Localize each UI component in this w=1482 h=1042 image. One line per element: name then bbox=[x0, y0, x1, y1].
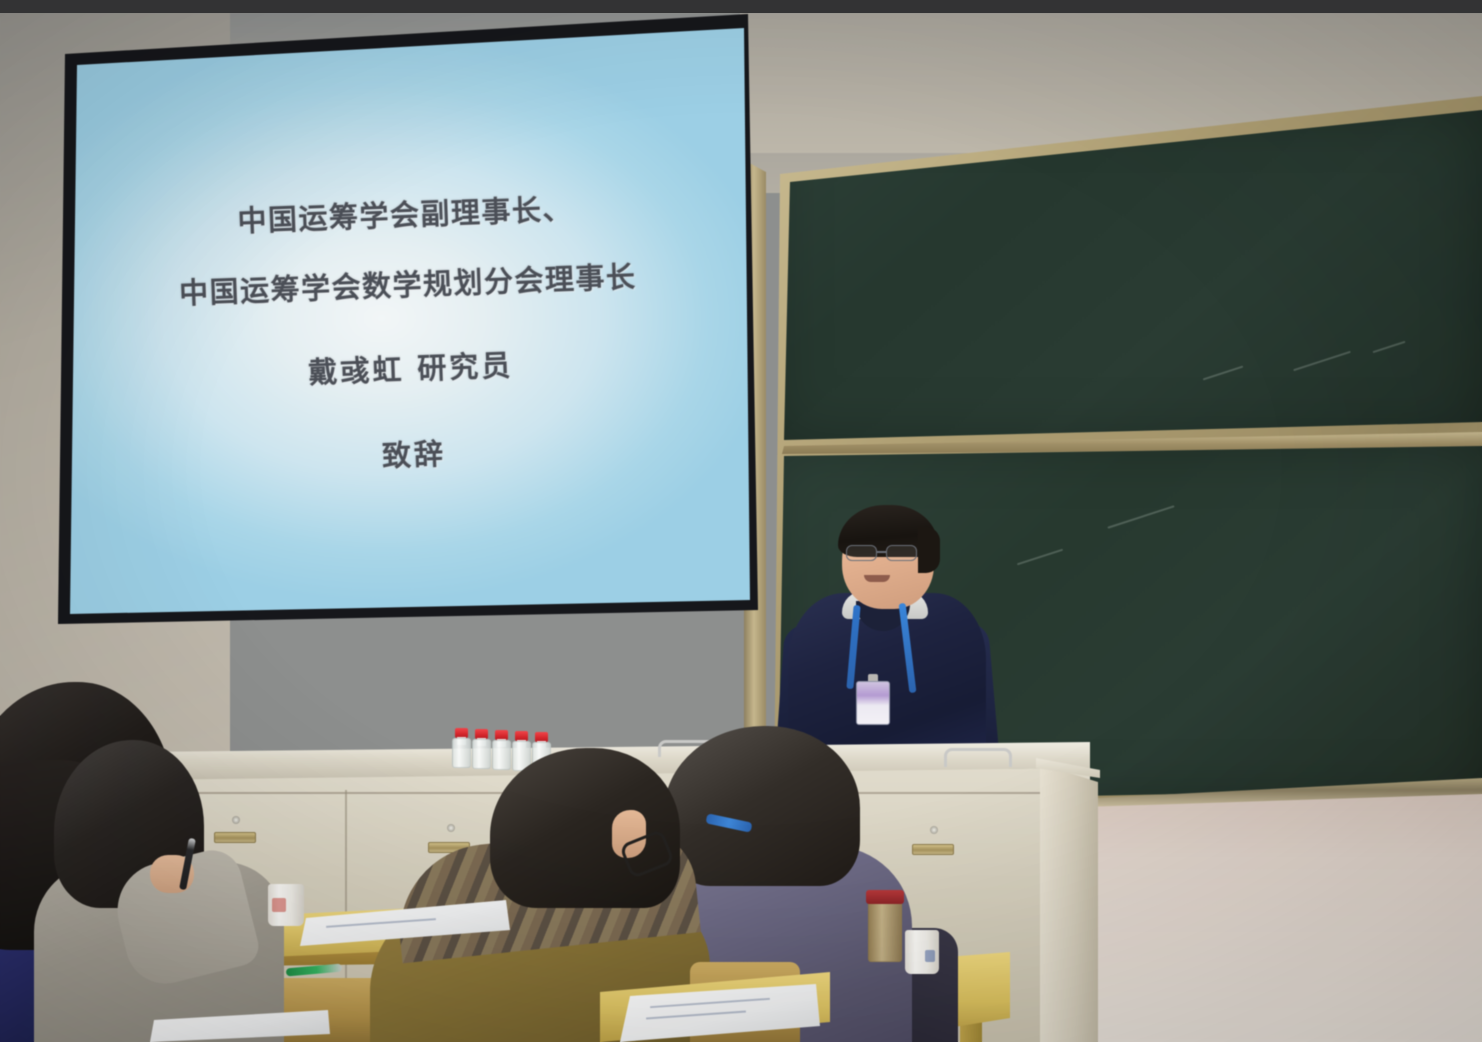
cabinet-drawer-handle[interactable] bbox=[214, 832, 256, 843]
cabinet-lock[interactable] bbox=[447, 824, 455, 832]
cabinet-lock[interactable] bbox=[232, 816, 240, 824]
paper-cup bbox=[268, 884, 304, 926]
glasses-lens-right bbox=[886, 545, 917, 561]
photo-scene: 中国运筹学会副理事长、 中国运筹学会数学规划分会理事长 戴彧虹 研究员 致辞 bbox=[0, 0, 1482, 1042]
chalk-scuff bbox=[1203, 366, 1244, 381]
chalk-scuff bbox=[1107, 505, 1174, 529]
audience-person-purple-shirt-hair bbox=[664, 726, 860, 886]
chalk-scuff bbox=[1293, 351, 1351, 371]
slide-line-speaker-name: 戴彧虹 研究员 bbox=[308, 342, 515, 391]
speaker-mouth bbox=[864, 575, 890, 582]
water-bottle bbox=[492, 730, 511, 770]
chalk-scuff bbox=[1017, 549, 1063, 566]
audience-person-olive-vest-hair bbox=[490, 748, 680, 908]
speaker-person bbox=[780, 505, 995, 770]
water-bottle bbox=[452, 728, 471, 768]
thermos-bottle bbox=[868, 896, 902, 962]
glasses-lens-left bbox=[846, 545, 877, 561]
glasses-icon bbox=[846, 545, 932, 561]
slide-line-1: 中国运筹学会副理事长、 bbox=[237, 186, 574, 240]
slide-content: 中国运筹学会副理事长、 中国运筹学会数学规划分会理事长 戴彧虹 研究员 致辞 bbox=[68, 22, 750, 614]
slide-line-2: 中国运筹学会数学规划分会理事长 bbox=[178, 254, 637, 313]
cabinet-lock[interactable] bbox=[930, 826, 938, 834]
glasses-bridge bbox=[877, 551, 886, 553]
letterbox-bar bbox=[0, 0, 1482, 13]
slide-line-action: 致辞 bbox=[381, 431, 447, 475]
paper-cup bbox=[905, 930, 939, 974]
projection-screen-surface: 中国运筹学会副理事长、 中国运筹学会数学规划分会理事长 戴彧虹 研究员 致辞 bbox=[68, 22, 750, 614]
counter-right-post bbox=[1040, 760, 1098, 1042]
chalk-scuff bbox=[1373, 341, 1406, 353]
thermos-cap bbox=[866, 890, 904, 904]
bottle-body bbox=[472, 739, 491, 769]
counter-rail-handle bbox=[944, 748, 1012, 767]
bottle-body bbox=[452, 738, 471, 768]
water-bottle bbox=[472, 729, 491, 769]
cabinet-drawer-handle[interactable] bbox=[912, 844, 954, 855]
bottle-body bbox=[492, 740, 511, 770]
conference-badge bbox=[856, 681, 890, 725]
